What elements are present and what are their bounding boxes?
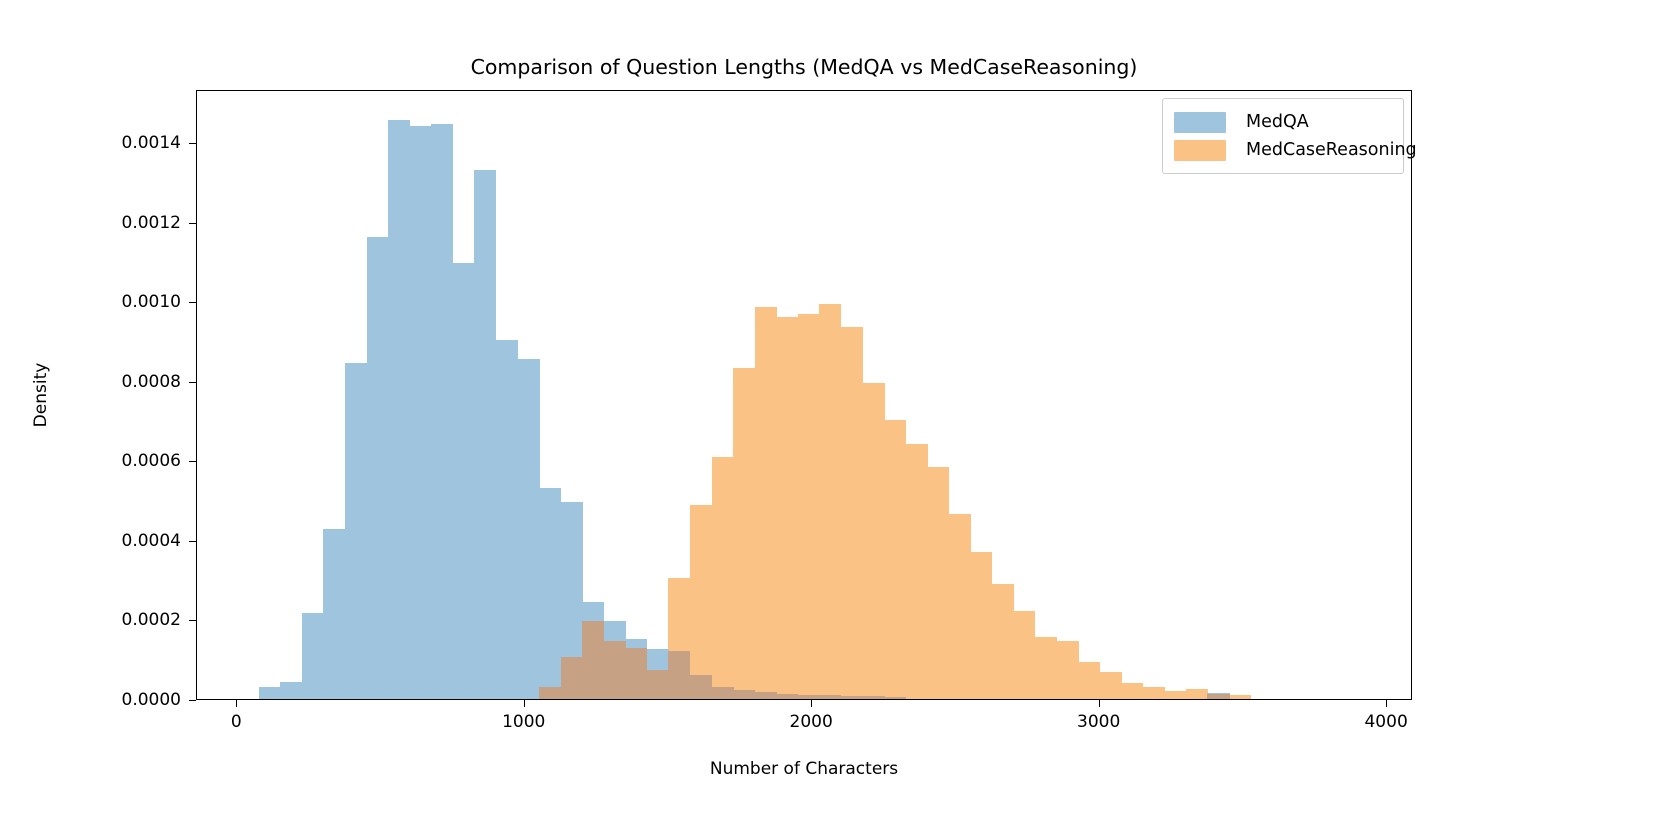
x-tick-mark — [1386, 700, 1387, 707]
histogram-bar-overlap — [1207, 694, 1229, 699]
y-tick-label: 0.0002 — [11, 610, 181, 630]
histogram-bar-overlap — [539, 687, 561, 699]
histogram-bar-overlap — [884, 697, 906, 699]
y-tick-mark — [189, 461, 196, 462]
histogram-bar-overlap — [604, 641, 626, 699]
y-tick-mark — [189, 143, 196, 144]
x-tick-label: 1000 — [502, 712, 545, 732]
y-tick-mark — [189, 541, 196, 542]
histogram-bar-overlap — [625, 648, 647, 699]
histogram-bar-overlap — [862, 696, 884, 699]
legend-item-medqa[interactable]: MedQA — [1174, 108, 1392, 136]
x-tick-mark — [1099, 700, 1100, 707]
histogram-bar-overlap — [668, 651, 690, 699]
x-tick-label: 2000 — [790, 712, 833, 732]
histogram-bar-overlap — [776, 694, 798, 699]
histogram-bar-overlap — [733, 690, 755, 699]
y-tick-label: 0.0014 — [11, 133, 181, 153]
x-tick-mark — [811, 700, 812, 707]
x-tick-label: 4000 — [1364, 712, 1407, 732]
bars-container — [197, 91, 1411, 699]
y-tick-label: 0.0000 — [11, 690, 181, 710]
histogram-bar-overlap — [712, 687, 734, 699]
matplotlib-figure: Comparison of Question Lengths (MedQA vs… — [0, 0, 1661, 830]
y-axis-label: Density — [31, 295, 51, 495]
histogram-bar-overlap — [798, 695, 820, 699]
y-tick-mark — [189, 302, 196, 303]
page-title: Comparison of Question Lengths (MedQA vs… — [196, 55, 1412, 79]
x-tick-mark — [236, 700, 237, 707]
y-tick-mark — [189, 700, 196, 701]
legend-swatch-icon — [1174, 140, 1226, 161]
x-axis-label: Number of Characters — [196, 759, 1412, 779]
y-tick-label: 0.0012 — [11, 213, 181, 233]
histogram-bar-overlap — [819, 695, 841, 699]
legend[interactable]: MedQA MedCaseReasoning — [1162, 98, 1404, 174]
plot-area — [196, 90, 1412, 700]
histogram-bar-overlap — [841, 696, 863, 699]
legend-label: MedQA — [1246, 112, 1309, 132]
histogram-bar-overlap — [755, 692, 777, 699]
y-tick-mark — [189, 223, 196, 224]
histogram-bar-overlap — [582, 621, 604, 699]
legend-item-medcasereasoning[interactable]: MedCaseReasoning — [1174, 136, 1392, 164]
y-tick-mark — [189, 620, 196, 621]
overlap-layer — [197, 91, 1411, 699]
x-tick-label: 0 — [231, 712, 242, 732]
x-tick-label: 3000 — [1077, 712, 1120, 732]
histogram-bar-overlap — [690, 675, 712, 699]
legend-label: MedCaseReasoning — [1246, 140, 1417, 160]
y-tick-mark — [189, 382, 196, 383]
y-tick-label: 0.0004 — [11, 531, 181, 551]
x-tick-mark — [524, 700, 525, 707]
legend-swatch-icon — [1174, 112, 1226, 133]
histogram-bar-overlap — [561, 657, 583, 699]
histogram-bar-overlap — [647, 670, 669, 699]
